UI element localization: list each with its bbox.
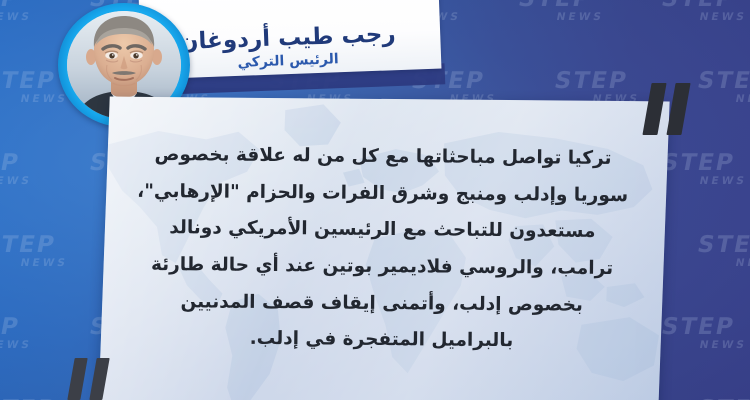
- watermark-step-text: STEP: [535, 70, 647, 93]
- quote-line: سوريا وإدلب ومنبج وشرق الفرات والحزام "ا…: [119, 173, 647, 214]
- quote-line: بخصوص إدلب، وأتمنى إيقاف قصف المدنيين: [118, 283, 646, 324]
- watermark-step-text: STEP: [499, 0, 611, 11]
- watermark-step-text: STEP: [0, 234, 75, 257]
- watermark-step-text: STEP: [642, 0, 750, 11]
- step-news-watermark: STEPNEWS: [497, 0, 612, 23]
- opening-quote-mark: [638, 83, 686, 139]
- watermark-news-text: NEWS: [640, 12, 750, 23]
- step-news-watermark: STEPNEWS: [533, 70, 648, 105]
- step-news-watermark: STEPNEWS: [0, 316, 39, 351]
- watermark-step-text: STEP: [678, 234, 750, 257]
- watermark-news-text: NEWS: [0, 12, 35, 23]
- quote-card: تركيا تواصل مباحثاتها مع كل من له علاقة …: [98, 97, 669, 400]
- quote-line: بالبراميل المتفجرة في إدلب.: [117, 320, 645, 361]
- quote-line: تركيا تواصل مباحثاتها مع كل من له علاقة …: [119, 137, 647, 178]
- watermark-step-text: STEP: [0, 0, 39, 11]
- step-news-watermark: STEPNEWS: [676, 234, 750, 269]
- watermark-news-text: NEWS: [0, 176, 35, 187]
- quote-text-block: تركيا تواصل مباحثاتها مع كل من له علاقة …: [117, 137, 647, 361]
- watermark-step-text: STEP: [0, 316, 39, 339]
- watermark-news-text: NEWS: [497, 12, 607, 23]
- step-news-watermark: STEPNEWS: [640, 0, 750, 23]
- watermark-news-text: NEWS: [0, 258, 71, 269]
- step-news-watermark: STEPNEWS: [0, 0, 39, 23]
- quote-line: ترامب، والروسي فلاديمير بوتين عند أي حال…: [118, 247, 646, 288]
- watermark-news-text: NEWS: [0, 340, 35, 351]
- watermark-step-text: STEP: [0, 152, 39, 175]
- watermark-news-text: NEWS: [676, 258, 750, 269]
- step-news-watermark: STEPNEWS: [0, 152, 39, 187]
- news-quote-card-image: STEPNEWSSTEPNEWSSTEPNEWSSTEPNEWSSTEPNEWS…: [0, 0, 750, 400]
- step-news-watermark: STEPNEWS: [0, 234, 75, 269]
- quote-line: مستعدون للتباحث مع الرئيسين الأمريكي دون…: [118, 210, 646, 251]
- watermark-news-text: NEWS: [0, 94, 71, 105]
- closing-quote-mark: [62, 358, 106, 400]
